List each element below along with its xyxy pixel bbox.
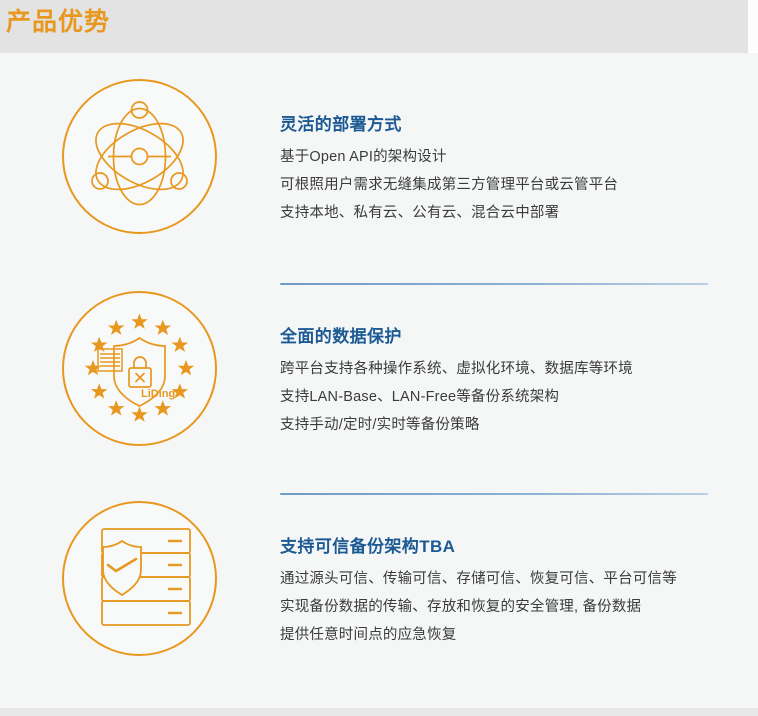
right-gutter	[748, 0, 758, 53]
feature-text-block: 全面的数据保护 跨平台支持各种操作系统、虚拟化环境、数据库等环境 支持LAN-B…	[280, 325, 720, 439]
feature-icon-wrap: LiDing	[62, 291, 217, 446]
icon-brand-label: LiDing	[141, 388, 175, 400]
section-header-bar: 产品优势	[0, 0, 748, 53]
feature-line: 可根照用户需求无缝集成第三方管理平台或云管平台	[280, 171, 720, 199]
server-rack-shield-icon	[62, 501, 217, 656]
feature-line: 基于Open API的架构设计	[280, 143, 720, 171]
feature-icon-wrap	[62, 79, 217, 234]
shield-check-badge	[103, 541, 141, 595]
feature-line: 支持手动/定时/实时等备份策略	[280, 411, 720, 439]
feature-line: 通过源头可信、传输可信、存储可信、恢复可信、平台可信等	[280, 565, 720, 593]
feature-text-block: 支持可信备份架构TBA 通过源头可信、传输可信、存储可信、恢复可信、平台可信等 …	[280, 535, 720, 649]
shield-lock-stars-icon: LiDing	[62, 291, 217, 446]
feature-title: 支持可信备份架构TBA	[280, 535, 720, 559]
feature-title: 灵活的部署方式	[280, 113, 720, 137]
feature-line: 提供任意时间点的应急恢复	[280, 621, 720, 649]
feature-line: 实现备份数据的传输、存放和恢复的安全管理, 备份数据	[280, 593, 720, 621]
feature-line: 跨平台支持各种操作系统、虚拟化环境、数据库等环境	[280, 355, 720, 383]
lock-icon	[129, 357, 151, 387]
feature-icon-wrap	[62, 501, 217, 656]
feature-text-block: 灵活的部署方式 基于Open API的架构设计 可根照用户需求无缝集成第三方管理…	[280, 113, 720, 227]
atom-molecule-icon	[62, 79, 217, 234]
document-lines	[98, 349, 122, 371]
feature-item-flexible-deployment: 灵活的部署方式 基于Open API的架构设计 可根照用户需求无缝集成第三方管理…	[0, 53, 758, 263]
features-list: 灵活的部署方式 基于Open API的架构设计 可根照用户需求无缝集成第三方管理…	[0, 53, 758, 708]
product-advantages-page: 产品优势	[0, 0, 758, 716]
feature-title: 全面的数据保护	[280, 325, 720, 349]
feature-item-trusted-backup: 支持可信备份架构TBA 通过源头可信、传输可信、存储可信、恢复可信、平台可信等 …	[0, 475, 758, 685]
bottom-strip	[0, 708, 758, 716]
feature-item-data-protection: LiDing 全面的数据保护 跨平台支持各种操作系统、虚拟化环境、数据库等环境 …	[0, 265, 758, 475]
feature-line: 支持本地、私有云、公有云、混合云中部署	[280, 199, 720, 227]
page-title: 产品优势	[6, 6, 110, 38]
feature-line: 支持LAN-Base、LAN-Free等备份系统架构	[280, 383, 720, 411]
